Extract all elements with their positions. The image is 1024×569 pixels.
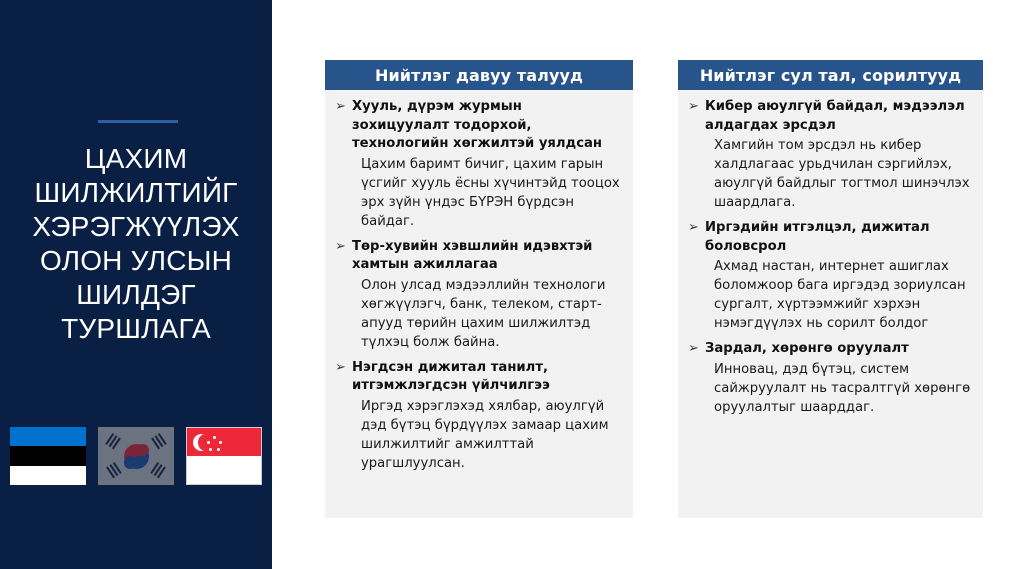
bullet-detail-text: Инновац, дэд бүтэц, систем сайжруулалт н… bbox=[714, 360, 973, 417]
pros-panel-header: Нийтлэг давуу талууд bbox=[325, 60, 633, 90]
estonia-black-band bbox=[10, 446, 86, 465]
star-icon-5 bbox=[207, 441, 210, 444]
list-item: ➢ Хууль, дүрэм журмын зохицуулалт тодорх… bbox=[335, 98, 623, 231]
list-item: ➢ Нэгдсэн дижитал танилт, итгэмжлэгдсэн … bbox=[335, 359, 623, 473]
cons-panel-header: Нийтлэг сул тал, сорилтууд bbox=[678, 60, 983, 90]
cons-panel: Нийтлэг сул тал, сорилтууд ➢ Кибер аюулг… bbox=[678, 60, 983, 518]
bullet-heading-row: ➢ Иргэдийн итгэлцэл, дижитал боловсрол bbox=[688, 219, 973, 256]
flag-row bbox=[10, 427, 262, 485]
estonia-white-band bbox=[10, 466, 86, 485]
bullet-heading-text: Зардал, хөрөнгө оруулалт bbox=[705, 340, 973, 359]
list-item: ➢ Кибер аюулгүй байдал, мэдээлэл алдагда… bbox=[688, 98, 973, 212]
bullet-heading-row: ➢ Төр-хувийн хэвшлийн идэвхтэй хамтын аж… bbox=[335, 238, 623, 275]
title-sidebar: ЦАХИМ ШИЛЖИЛТИЙГ ХЭРЭГЖҮҮЛЭХ ОЛОН УЛСЫН … bbox=[0, 0, 272, 569]
bullet-heading-text: Төр-хувийн хэвшлийн идэвхтэй хамтын ажил… bbox=[352, 238, 623, 275]
bullet-detail-text: Хамгийн том эрсдэл нь кибер халдлагаас у… bbox=[714, 136, 973, 212]
bullet-detail-text: Ахмад настан, интернет ашиглах боломжоор… bbox=[714, 257, 973, 333]
pros-panel: Нийтлэг давуу талууд ➢ Хууль, дүрэм журм… bbox=[325, 60, 633, 518]
estonia-blue-band bbox=[10, 427, 86, 446]
list-item: ➢ Иргэдийн итгэлцэл, дижитал боловсрол А… bbox=[688, 219, 973, 333]
bullet-heading-text: Кибер аюулгүй байдал, мэдээлэл алдагдах … bbox=[705, 98, 973, 135]
taegeuk-red-lobe bbox=[136, 444, 149, 457]
arrow-bullet-icon: ➢ bbox=[688, 219, 705, 238]
south-korea-flag-icon bbox=[98, 427, 174, 485]
bullet-heading-text: Нэгдсэн дижитал танилт, итгэмжлэгдсэн үй… bbox=[352, 359, 623, 396]
trigram-top-right-icon bbox=[150, 433, 166, 450]
bullet-heading-row: ➢ Хууль, дүрэм журмын зохицуулалт тодорх… bbox=[335, 98, 623, 154]
trigram-bottom-left-icon bbox=[105, 462, 121, 479]
star-icon-2 bbox=[219, 441, 222, 444]
singapore-flag-icon bbox=[186, 427, 262, 485]
pros-panel-body: ➢ Хууль, дүрэм журмын зохицуулалт тодорх… bbox=[325, 90, 633, 473]
arrow-bullet-icon: ➢ bbox=[335, 98, 352, 117]
bullet-detail-text: Иргэд хэрэглэхэд хялбар, аюулгүй дэд бүт… bbox=[361, 397, 623, 473]
star-icon-3 bbox=[217, 448, 220, 451]
estonia-flag-icon bbox=[10, 427, 86, 485]
star-icon-1 bbox=[213, 436, 216, 439]
page-title: ЦАХИМ ШИЛЖИЛТИЙГ ХЭРЭГЖҮҮЛЭХ ОЛОН УЛСЫН … bbox=[8, 142, 264, 346]
bullet-heading-text: Иргэдийн итгэлцэл, дижитал боловсрол bbox=[705, 219, 973, 256]
arrow-bullet-icon: ➢ bbox=[335, 359, 352, 378]
singapore-white-band bbox=[187, 456, 261, 484]
bullet-heading-row: ➢ Зардал, хөрөнгө оруулалт bbox=[688, 340, 973, 359]
trigram-bottom-right-icon bbox=[150, 462, 166, 479]
taegeuk-blue-lobe bbox=[124, 456, 137, 469]
arrow-bullet-icon: ➢ bbox=[335, 238, 352, 257]
cons-panel-body: ➢ Кибер аюулгүй байдал, мэдээлэл алдагда… bbox=[678, 90, 983, 417]
list-item: ➢ Төр-хувийн хэвшлийн идэвхтэй хамтын аж… bbox=[335, 238, 623, 352]
bullet-heading-row: ➢ Нэгдсэн дижитал танилт, итгэмжлэгдсэн … bbox=[335, 359, 623, 396]
list-item: ➢ Зардал, хөрөнгө оруулалт Инновац, дэд … bbox=[688, 340, 973, 417]
bullet-heading-text: Хууль, дүрэм журмын зохицуулалт тодорхой… bbox=[352, 98, 623, 154]
arrow-bullet-icon: ➢ bbox=[688, 98, 705, 117]
slide-canvas: ЦАХИМ ШИЛЖИЛТИЙГ ХЭРЭГЖҮҮЛЭХ ОЛОН УЛСЫН … bbox=[0, 0, 1024, 569]
bullet-heading-row: ➢ Кибер аюулгүй байдал, мэдээлэл алдагда… bbox=[688, 98, 973, 135]
bullet-detail-text: Цахим баримт бичиг, цахим гарын үсгийг х… bbox=[361, 155, 623, 231]
taegeuk-icon bbox=[124, 444, 149, 469]
trigram-top-left-icon bbox=[105, 433, 121, 450]
star-icon-4 bbox=[209, 448, 212, 451]
arrow-bullet-icon: ➢ bbox=[688, 340, 705, 359]
accent-divider bbox=[98, 120, 178, 123]
bullet-detail-text: Олон улсад мэдээллийн технологи хөгжүүлэ… bbox=[361, 276, 623, 352]
